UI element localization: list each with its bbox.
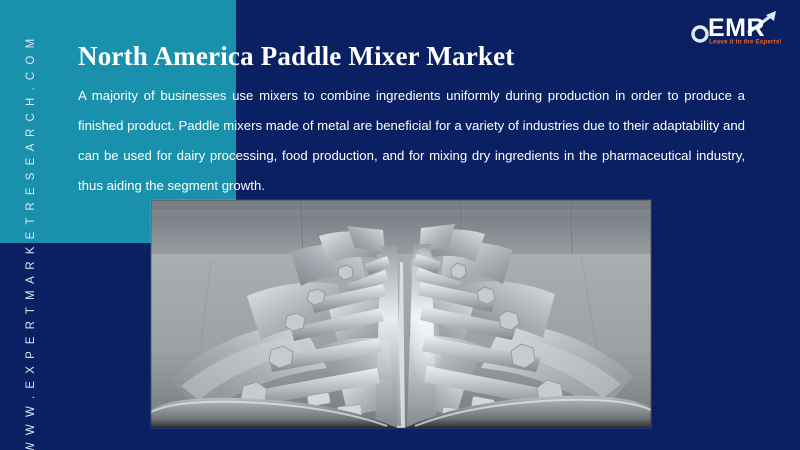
logo-circle-icon [693,27,707,41]
body-paragraph: A majority of businesses use mixers to c… [78,81,745,201]
page-title: North America Paddle Mixer Market [78,40,738,72]
paddle-mixer-photo [151,200,651,428]
slide: W W W . E X P E R T M A R K E T R E S E … [0,0,800,450]
